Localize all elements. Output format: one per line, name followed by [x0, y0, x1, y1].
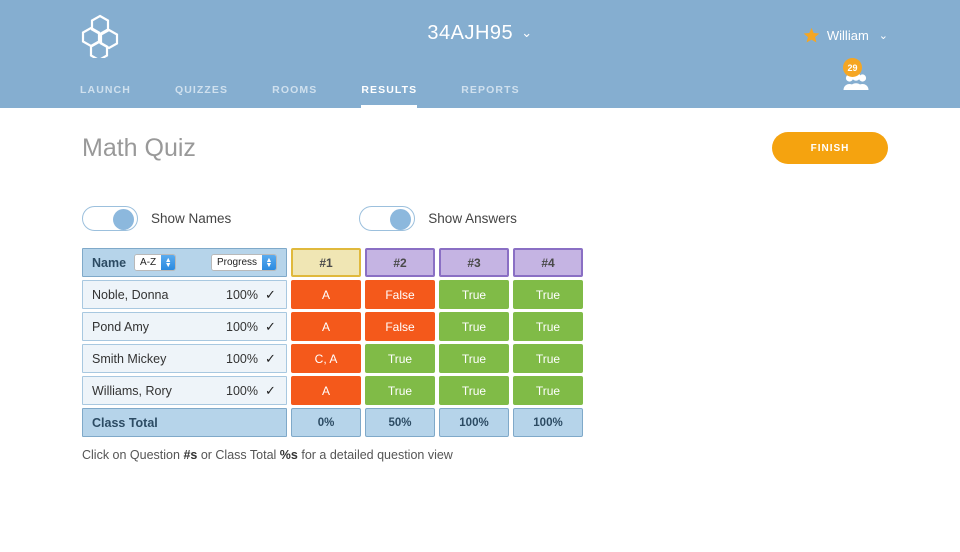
stepper-arrows-icon: ▲▼	[161, 255, 175, 270]
student-name: Williams, Rory	[92, 384, 226, 398]
nav-item-quizzes[interactable]: QUIZZES	[175, 84, 228, 108]
show-answers-toggle-group: Show Answers	[359, 206, 517, 231]
finish-button[interactable]: FINISH	[772, 132, 888, 164]
show-answers-toggle[interactable]	[359, 206, 415, 231]
answer-cell[interactable]: True	[439, 376, 509, 405]
sort-order-select[interactable]: A-Z ▲▼	[134, 254, 176, 271]
answer-cell[interactable]: True	[513, 344, 583, 373]
question-header-1[interactable]: #1	[291, 248, 361, 277]
show-names-label: Show Names	[151, 211, 231, 226]
question-header-3[interactable]: #3	[439, 248, 509, 277]
check-icon: ✓	[265, 319, 277, 335]
answer-cell[interactable]: False	[365, 280, 435, 309]
name-column-header: Name A-Z ▲▼ Progress ▲▼	[82, 248, 287, 277]
class-total-q2[interactable]: 50%	[365, 408, 435, 437]
results-table: Name A-Z ▲▼ Progress ▲▼ #1 #2 #3 #4 Nobl…	[82, 248, 583, 440]
table-row: Williams, Rory 100% ✓ A True True True	[82, 376, 583, 405]
nav-item-rooms[interactable]: ROOMS	[272, 84, 317, 108]
progress-value: Progress	[212, 255, 262, 270]
answer-cell[interactable]: A	[291, 376, 361, 405]
toggle-knob	[390, 209, 411, 230]
answer-cell[interactable]: A	[291, 280, 361, 309]
check-icon: ✓	[265, 351, 277, 367]
check-icon: ✓	[265, 383, 277, 399]
room-code-label: 34AJH95	[427, 22, 513, 44]
question-header-4[interactable]: #4	[513, 248, 583, 277]
check-icon: ✓	[265, 287, 277, 303]
progress-select[interactable]: Progress ▲▼	[211, 254, 277, 271]
class-total-q3[interactable]: 100%	[439, 408, 509, 437]
participants-indicator[interactable]: 29	[835, 58, 875, 98]
student-name-cell[interactable]: Smith Mickey 100% ✓	[82, 344, 287, 373]
student-name: Pond Amy	[92, 320, 226, 334]
hint-bold-1: #s	[183, 448, 197, 462]
table-row: Pond Amy 100% ✓ A False True True	[82, 312, 583, 341]
show-answers-label: Show Answers	[428, 211, 517, 226]
hint-bold-2: %s	[280, 448, 298, 462]
table-row: Smith Mickey 100% ✓ C, A True True True	[82, 344, 583, 373]
answer-cell[interactable]: True	[513, 376, 583, 405]
answer-cell[interactable]: True	[439, 312, 509, 341]
sort-order-value: A-Z	[135, 255, 161, 270]
answer-cell[interactable]: A	[291, 312, 361, 341]
page-title: Math Quiz	[82, 134, 196, 163]
main-nav: LAUNCH QUIZZES ROOMS RESULTS REPORTS	[80, 72, 564, 108]
user-menu[interactable]: William ⌄	[803, 27, 888, 44]
name-header-label: Name	[92, 256, 126, 270]
show-names-toggle-group: Show Names	[82, 206, 231, 231]
student-progress: 100%	[226, 384, 258, 398]
stepper-arrows-icon: ▲▼	[262, 255, 276, 270]
answer-cell[interactable]: True	[513, 312, 583, 341]
student-progress: 100%	[226, 320, 258, 334]
toggle-row: Show Names Show Answers	[82, 206, 517, 231]
show-names-toggle[interactable]	[82, 206, 138, 231]
participants-badge: 29	[843, 58, 862, 77]
student-name: Smith Mickey	[92, 352, 226, 366]
class-total-label: Class Total	[82, 408, 287, 437]
hint-part-2: or Class Total	[197, 448, 279, 462]
hint-part-1: Click on Question	[82, 448, 183, 462]
class-total-row: Class Total 0% 50% 100% 100%	[82, 408, 583, 437]
student-name-cell[interactable]: Williams, Rory 100% ✓	[82, 376, 287, 405]
hint-part-3: for a detailed question view	[298, 448, 453, 462]
nav-item-launch[interactable]: LAUNCH	[80, 84, 131, 108]
table-hint-text: Click on Question #s or Class Total %s f…	[82, 448, 453, 462]
student-progress: 100%	[226, 288, 258, 302]
class-total-q1[interactable]: 0%	[291, 408, 361, 437]
student-progress: 100%	[226, 352, 258, 366]
user-name-label: William	[827, 28, 869, 43]
star-icon	[803, 27, 820, 44]
toggle-knob	[113, 209, 134, 230]
answer-cell[interactable]: True	[365, 344, 435, 373]
answer-cell[interactable]: True	[439, 280, 509, 309]
question-header-2[interactable]: #2	[365, 248, 435, 277]
table-row: Noble, Donna 100% ✓ A False True True	[82, 280, 583, 309]
nav-item-reports[interactable]: REPORTS	[461, 84, 519, 108]
student-name-cell[interactable]: Pond Amy 100% ✓	[82, 312, 287, 341]
answer-cell[interactable]: C, A	[291, 344, 361, 373]
answer-cell[interactable]: True	[513, 280, 583, 309]
answer-cell[interactable]: True	[439, 344, 509, 373]
class-total-q4[interactable]: 100%	[513, 408, 583, 437]
answer-cell[interactable]: True	[365, 376, 435, 405]
student-name-cell[interactable]: Noble, Donna 100% ✓	[82, 280, 287, 309]
chevron-down-icon: ⌄	[521, 25, 532, 40]
student-name: Noble, Donna	[92, 288, 226, 302]
chevron-down-icon: ⌄	[879, 29, 888, 42]
app-header: 34AJH95⌄ William ⌄ 29	[0, 0, 960, 108]
nav-item-results[interactable]: RESULTS	[361, 84, 417, 108]
answer-cell[interactable]: False	[365, 312, 435, 341]
table-header-row: Name A-Z ▲▼ Progress ▲▼ #1 #2 #3 #4	[82, 248, 583, 277]
